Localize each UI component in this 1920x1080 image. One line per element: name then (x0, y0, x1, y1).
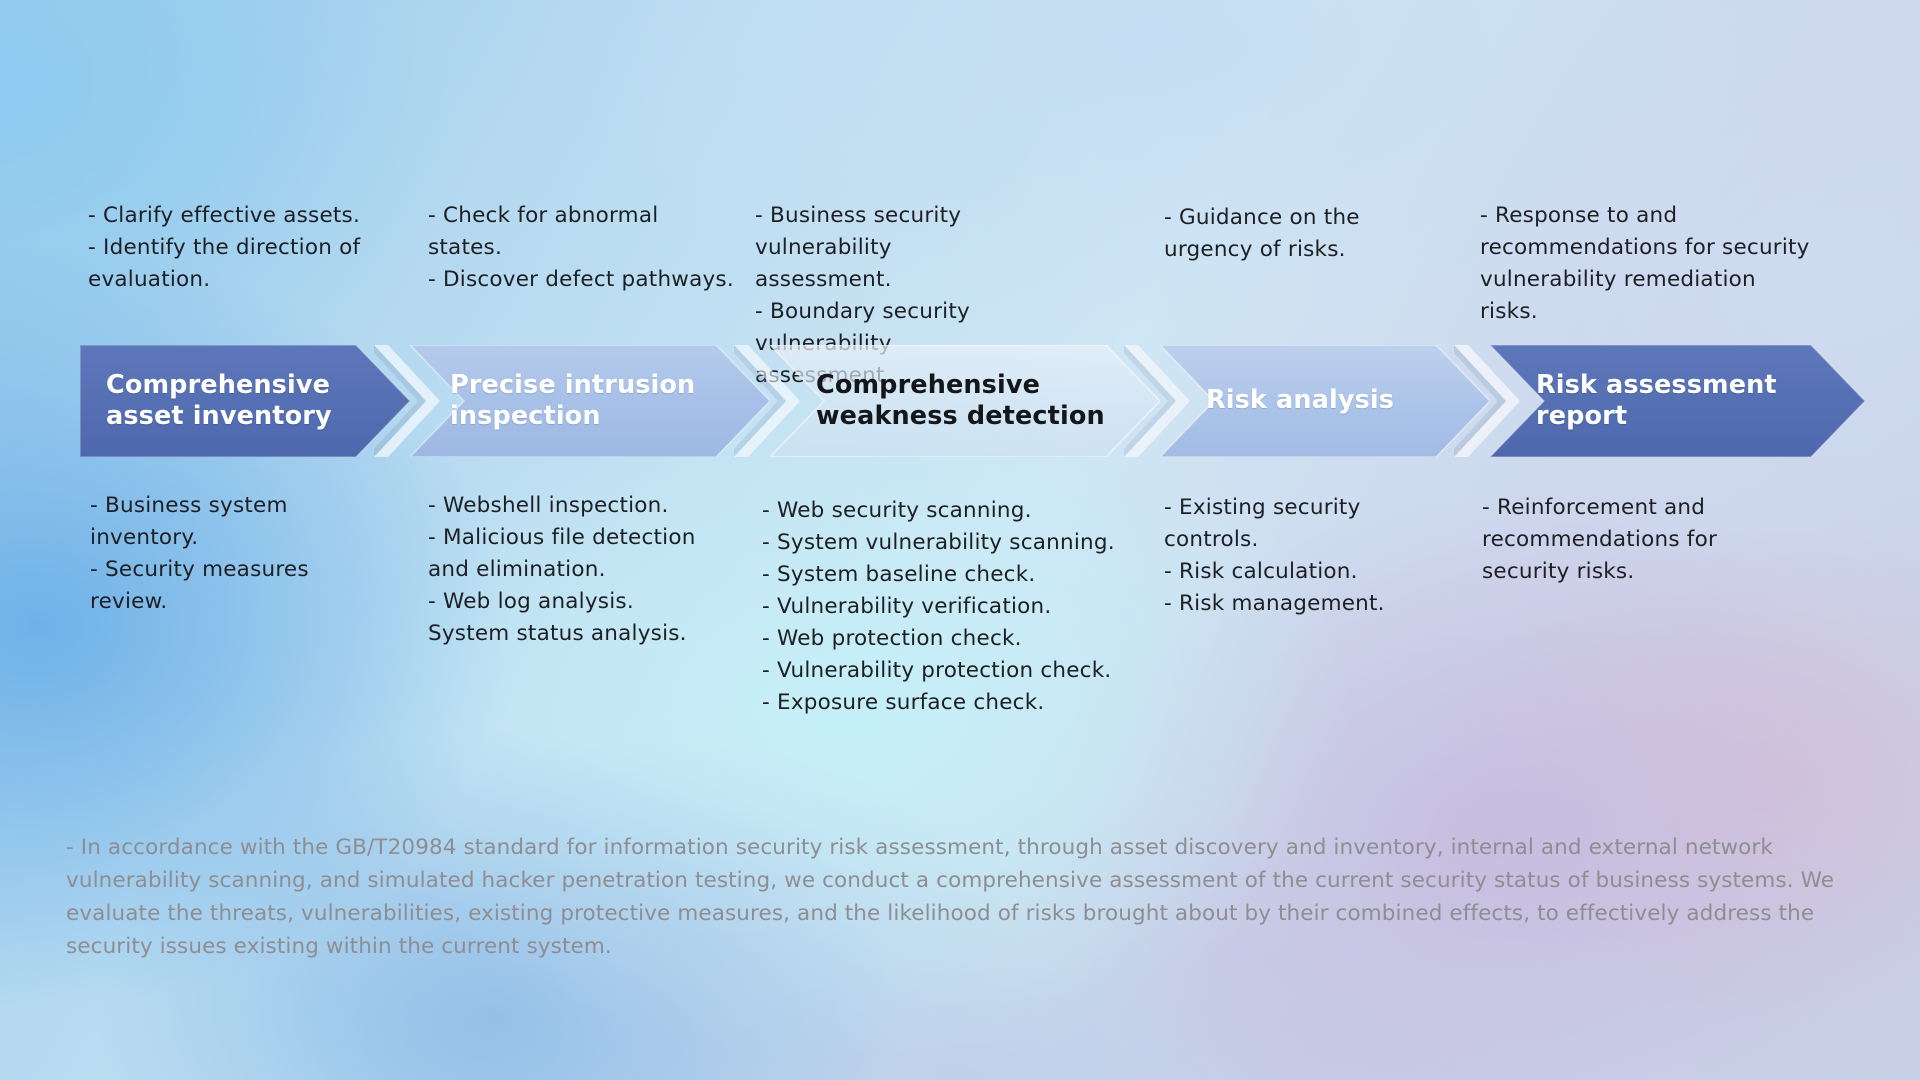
stage-bottom-notes-5: - Reinforcement and recommendations for … (1482, 492, 1802, 588)
stage-bottom-notes-4: - Existing security controls. - Risk cal… (1164, 492, 1444, 620)
stage-top-notes-1: - Clarify effective assets. - Identify t… (88, 200, 378, 296)
stage-chevron-precise-intrusion-inspection[interactable]: Precise intrusion inspection (410, 345, 770, 457)
footnote-description: - In accordance with the GB/T20984 stand… (66, 832, 1866, 964)
stage-title-2: Precise intrusion inspection (450, 370, 695, 432)
stage-top-notes-5: - Response to and recommendations for se… (1480, 200, 1810, 328)
stage-chevron-comprehensive-asset-inventory[interactable]: Comprehensive asset inventory (80, 345, 410, 457)
stage-bottom-notes-1: - Business system inventory. - Security … (90, 490, 370, 618)
stage-chevron-comprehensive-weakness-detection[interactable]: Comprehensive weakness detection (770, 345, 1160, 457)
stage-bottom-notes-3: - Web security scanning. - System vulner… (762, 495, 1122, 719)
stage-title-1: Comprehensive asset inventory (106, 370, 332, 432)
stage-title-5: Risk assessment report (1536, 370, 1777, 432)
stage-title-4: Risk analysis (1206, 385, 1394, 416)
stage-top-notes-4: - Guidance on the urgency of risks. (1164, 202, 1444, 266)
stage-chevron-risk-analysis[interactable]: Risk analysis (1160, 345, 1490, 457)
stage-title-3: Comprehensive weakness detection (816, 370, 1105, 432)
stage-chevron-risk-assessment-report[interactable]: Risk assessment report (1490, 345, 1865, 457)
stage-bottom-notes-2: - Webshell inspection. - Malicious file … (428, 490, 728, 650)
process-chevron-band: Comprehensive asset inventory (0, 345, 1920, 457)
process-diagram: - Clarify effective assets. - Identify t… (0, 0, 1920, 1080)
stage-top-notes-2: - Check for abnormal states. - Discover … (428, 200, 738, 296)
